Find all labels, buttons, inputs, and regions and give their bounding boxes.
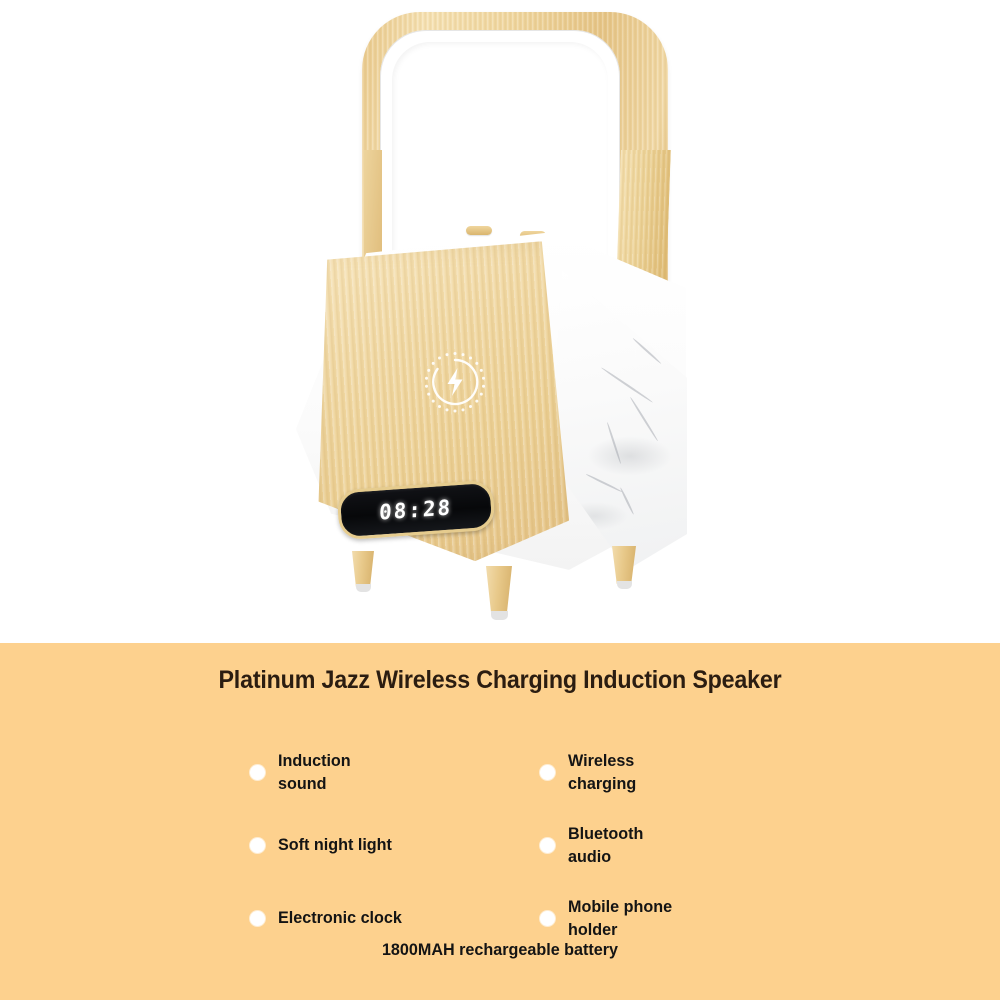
product-title: Platinum Jazz Wireless Charging Inductio…: [35, 666, 965, 695]
feature-label: Induction sound: [278, 750, 351, 795]
info-panel: Platinum Jazz Wireless Charging Inductio…: [0, 643, 1000, 1000]
bullet-dot-icon: [250, 765, 265, 780]
product-listing-page: 08:28 Platinum Jazz Wireless Charging In…: [0, 0, 1000, 1000]
feature-item-wireless-charging: Wireless charging: [540, 736, 810, 809]
feature-item-soft-night-light: Soft night light: [250, 809, 540, 882]
feature-label: Bluetooth audio: [568, 823, 643, 868]
bullet-dot-icon: [250, 838, 265, 853]
feature-list: Induction sound Wireless charging Soft n…: [250, 736, 810, 955]
product-photo: 08:28: [0, 0, 1000, 643]
speaker-leg: [486, 566, 512, 614]
product-illustration: 08:28: [0, 0, 1000, 643]
clock-time-text: 08:28: [379, 495, 453, 524]
bullet-dot-icon: [540, 911, 555, 926]
feature-label: Electronic clock: [278, 907, 402, 929]
feature-label: Soft night light: [278, 834, 392, 856]
bullet-dot-icon: [540, 838, 555, 853]
feature-item-bluetooth-audio: Bluetooth audio: [540, 809, 810, 882]
feature-label: Wireless charging: [568, 750, 636, 795]
bullet-dot-icon: [540, 765, 555, 780]
speaker-leg-foot: [356, 584, 371, 592]
bullet-dot-icon: [250, 911, 265, 926]
speaker-leg-foot: [491, 611, 508, 620]
feature-label: Mobile phone holder: [568, 896, 672, 941]
battery-note: 1800MAH rechargeable battery: [25, 940, 975, 960]
feature-item-induction-sound: Induction sound: [250, 736, 540, 809]
wireless-charging-icon: [423, 350, 487, 414]
speaker-leg-foot: [617, 581, 632, 589]
